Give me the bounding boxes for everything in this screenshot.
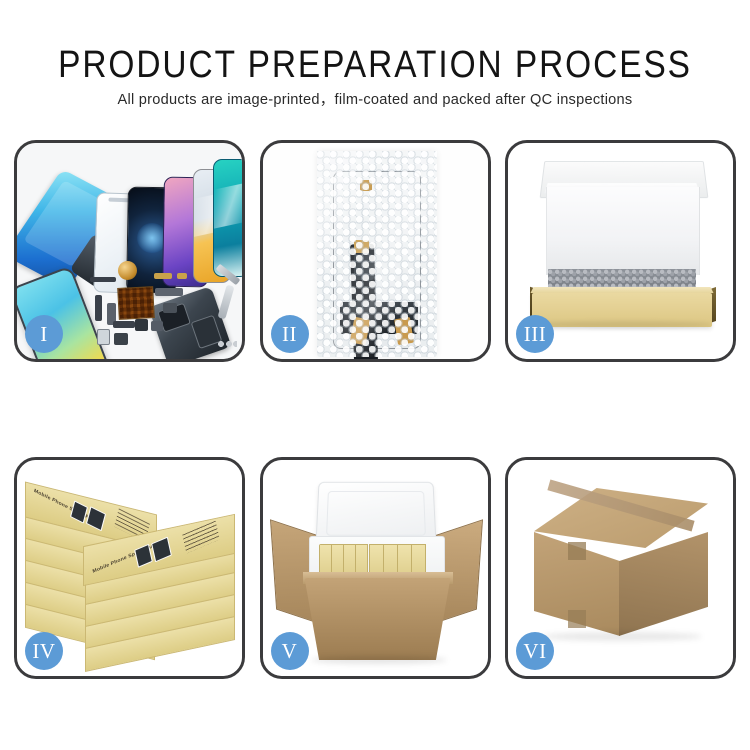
step-panel-6[interactable]: VI (505, 457, 736, 679)
process-steps-grid: I II (14, 140, 736, 680)
step-badge-1: I (25, 315, 63, 353)
teal-phone-icon (213, 159, 242, 277)
carton-body (305, 578, 451, 660)
speaker-unit-icon (135, 319, 148, 331)
ribbon-cable-icon (95, 295, 102, 321)
box-phone-thumbnail (70, 500, 88, 523)
gold-connector-icon (154, 273, 172, 279)
page-subtitle: All products are image-printed，film-coat… (0, 88, 750, 109)
box-phone-thumbnail (86, 506, 106, 531)
sim-tray-icon (151, 321, 163, 331)
step-panel-1[interactable]: I (14, 140, 245, 362)
connector-block-icon (114, 333, 128, 345)
step-panel-3[interactable]: III (505, 140, 736, 362)
carton-shadow (311, 656, 447, 664)
step-panel-2[interactable]: II (260, 140, 491, 362)
box-spec-lines (182, 521, 219, 554)
speaker-coil-icon (118, 261, 137, 280)
step-badge-5: V (271, 632, 309, 670)
screws-icon (217, 339, 237, 349)
white-foam-block (546, 187, 700, 275)
circuit-board-icon (117, 286, 155, 320)
vibration-motor-icon (163, 303, 177, 313)
camera-module-icon (155, 288, 183, 296)
step-panel-4[interactable]: Mobile Phone Spare Parts Mobile Phone Sp… (14, 457, 245, 679)
tweezers-icon (217, 285, 234, 320)
box-shadow (532, 321, 712, 328)
carton-right-face (619, 532, 708, 636)
step-badge-6: VI (516, 632, 554, 670)
step-panel-5[interactable]: V (260, 457, 491, 679)
step-badge-2: II (271, 315, 309, 353)
carton-tape-upper-icon (568, 542, 586, 560)
sensor-part-icon (97, 329, 110, 345)
box-phone-thumbnail (151, 537, 172, 563)
carton-tape-lower-icon (568, 610, 586, 628)
step-badge-3: III (516, 315, 554, 353)
flex-cable-icon (90, 277, 116, 282)
page-header: PRODUCT PREPARATION PROCESS All products… (0, 0, 750, 122)
gold-contact-icon (177, 273, 187, 279)
carton-shadow (542, 632, 702, 641)
step-badge-4: IV (25, 632, 63, 670)
page-title: PRODUCT PREPARATION PROCESS (45, 44, 705, 87)
antenna-strip-icon (113, 321, 135, 328)
bubble-wrap-bag (317, 151, 437, 357)
plastic-gloss-overlay (317, 151, 437, 357)
